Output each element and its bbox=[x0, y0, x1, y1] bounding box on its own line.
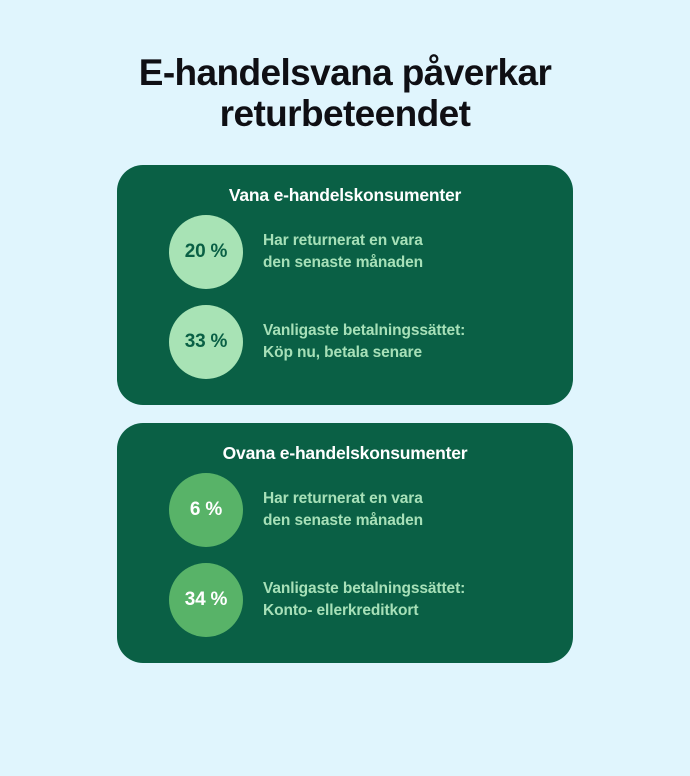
stat-rows-ovana: 6 % Har returnerat en vara den senaste m… bbox=[117, 473, 573, 637]
stat-row: 33 % Vanligaste betalningssättet: Köp nu… bbox=[117, 305, 573, 379]
stat-row: 20 % Har returnerat en vara den senaste … bbox=[117, 215, 573, 289]
stat-value-bubble: 33 % bbox=[169, 305, 243, 379]
stat-label: Vanligaste betalningssättet: Konto- elle… bbox=[263, 578, 465, 622]
stat-rows-vana: 20 % Har returnerat en vara den senaste … bbox=[117, 215, 573, 379]
stat-row: 6 % Har returnerat en vara den senaste m… bbox=[117, 473, 573, 547]
stat-label-line-2: den senaste månaden bbox=[263, 510, 423, 532]
card-header-vana: Vana e-handelskonsumenter bbox=[117, 183, 573, 207]
stat-card-ovana: Ovana e-handelskonsumenter 6 % Har retur… bbox=[117, 423, 573, 663]
stat-label-line-1: Har returnerat en vara bbox=[263, 488, 423, 510]
stat-label-line-1: Vanligaste betalningssättet: bbox=[263, 578, 465, 600]
stat-label-line-1: Har returnerat en vara bbox=[263, 230, 423, 252]
stat-row: 34 % Vanligaste betalningssättet: Konto-… bbox=[117, 563, 573, 637]
stat-label: Har returnerat en vara den senaste månad… bbox=[263, 488, 423, 532]
stat-card-vana: Vana e-handelskonsumenter 20 % Har retur… bbox=[117, 165, 573, 405]
stat-value-bubble: 34 % bbox=[169, 563, 243, 637]
infographic-page: E-handelsvana påverkar returbeteendet Va… bbox=[0, 0, 690, 776]
page-title: E-handelsvana påverkar returbeteendet bbox=[0, 0, 690, 134]
stat-label: Vanligaste betalningssättet: Köp nu, bet… bbox=[263, 320, 465, 364]
stat-label-line-2: den senaste månaden bbox=[263, 252, 423, 274]
stat-value-bubble: 6 % bbox=[169, 473, 243, 547]
page-title-line-1: E-handelsvana påverkar bbox=[60, 52, 630, 93]
card-header-ovana: Ovana e-handelskonsumenter bbox=[117, 441, 573, 465]
stat-label: Har returnerat en vara den senaste månad… bbox=[263, 230, 423, 274]
stat-label-line-2: Konto- ellerkreditkort bbox=[263, 600, 465, 622]
stat-label-line-1: Vanligaste betalningssättet: bbox=[263, 320, 465, 342]
stat-value-bubble: 20 % bbox=[169, 215, 243, 289]
stat-cards-container: Vana e-handelskonsumenter 20 % Har retur… bbox=[0, 165, 690, 663]
stat-label-line-2: Köp nu, betala senare bbox=[263, 342, 465, 364]
page-title-line-2: returbeteendet bbox=[60, 93, 630, 134]
